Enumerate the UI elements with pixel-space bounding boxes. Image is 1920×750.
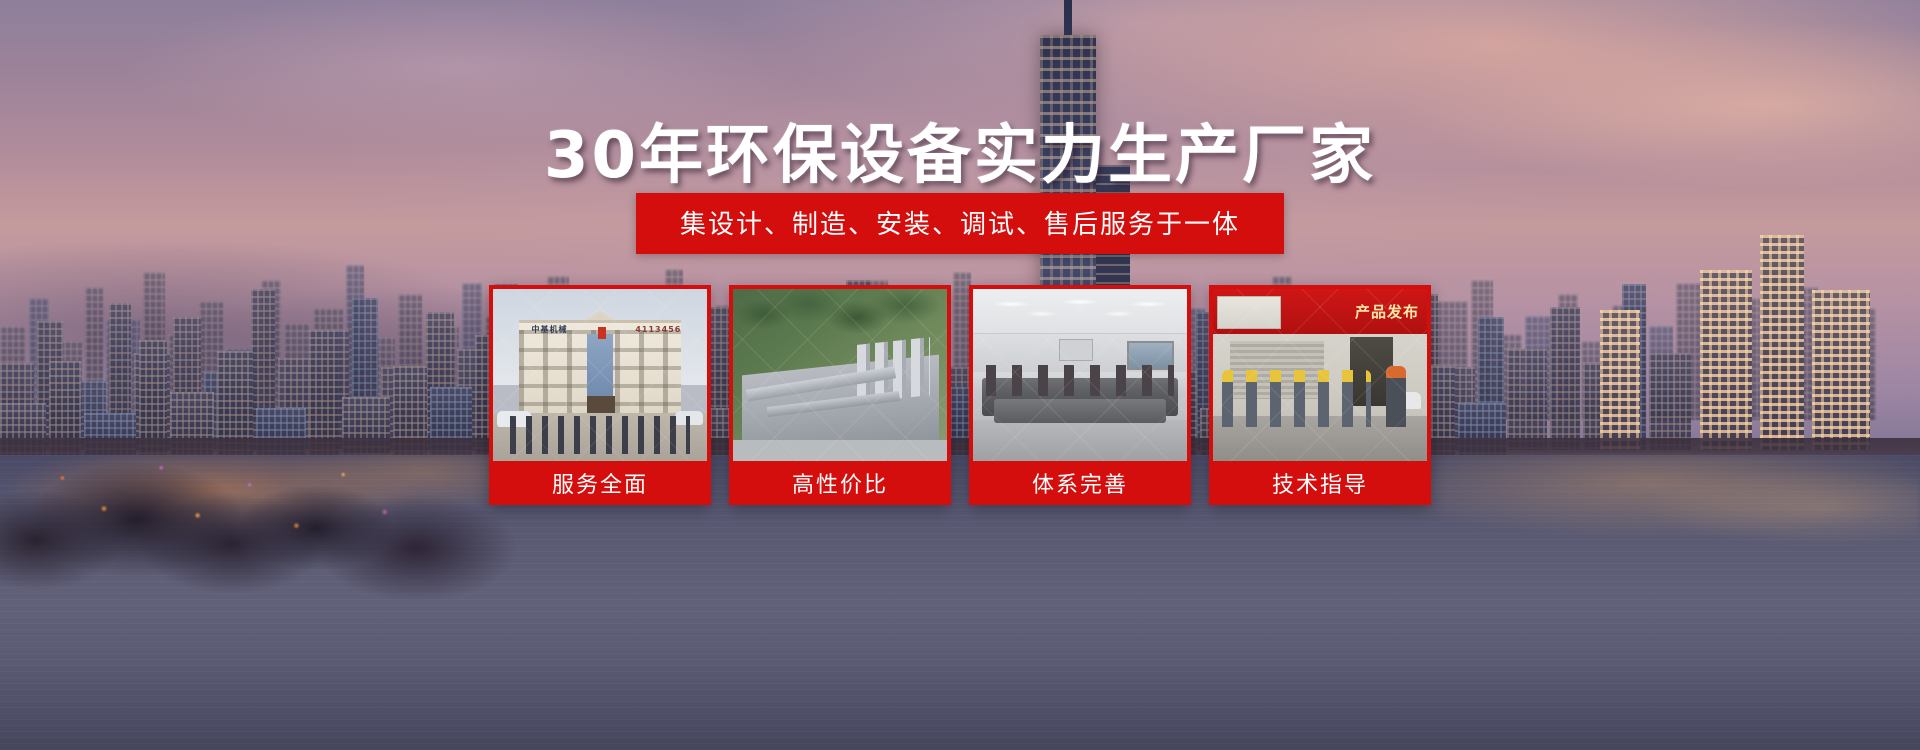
card-photo-factory-entrance: 产品发布 xyxy=(1213,289,1427,461)
card-photo-office-building: 中基机械 4113456 xyxy=(493,289,707,461)
building-sign-text: 中基机械 xyxy=(532,324,596,334)
feature-card[interactable]: 高性价比 xyxy=(729,285,951,505)
card-photo-industrial-plant xyxy=(733,289,947,461)
subtitle-container: 集设计、制造、安装、调试、售后服务于一体 xyxy=(0,193,1920,254)
feature-card[interactable]: 中基机械 4113456 服务全面 xyxy=(489,285,711,505)
feature-card[interactable]: 产品发布 技术指导 xyxy=(1209,285,1431,505)
building-phone-text: 4113456 xyxy=(617,324,681,334)
page-title: 30年环保设备实力生产厂家 xyxy=(0,104,1920,196)
card-photo-office-interior xyxy=(973,289,1187,461)
factory-banner-text: 产品发布 xyxy=(1213,289,1427,334)
subtitle-badge: 集设计、制造、安装、调试、售后服务于一体 xyxy=(636,193,1284,254)
card-label: 技术指导 xyxy=(1213,461,1427,505)
card-label: 高性价比 xyxy=(733,461,947,505)
card-label: 体系完善 xyxy=(973,461,1187,505)
hero-banner: 30年环保设备实力生产厂家 集设计、制造、安装、调试、售后服务于一体 中基机械 … xyxy=(0,0,1920,750)
feature-card-row: 中基机械 4113456 服务全面 高性价比 xyxy=(0,285,1920,505)
feature-card[interactable]: 体系完善 xyxy=(969,285,1191,505)
card-label: 服务全面 xyxy=(493,461,707,505)
